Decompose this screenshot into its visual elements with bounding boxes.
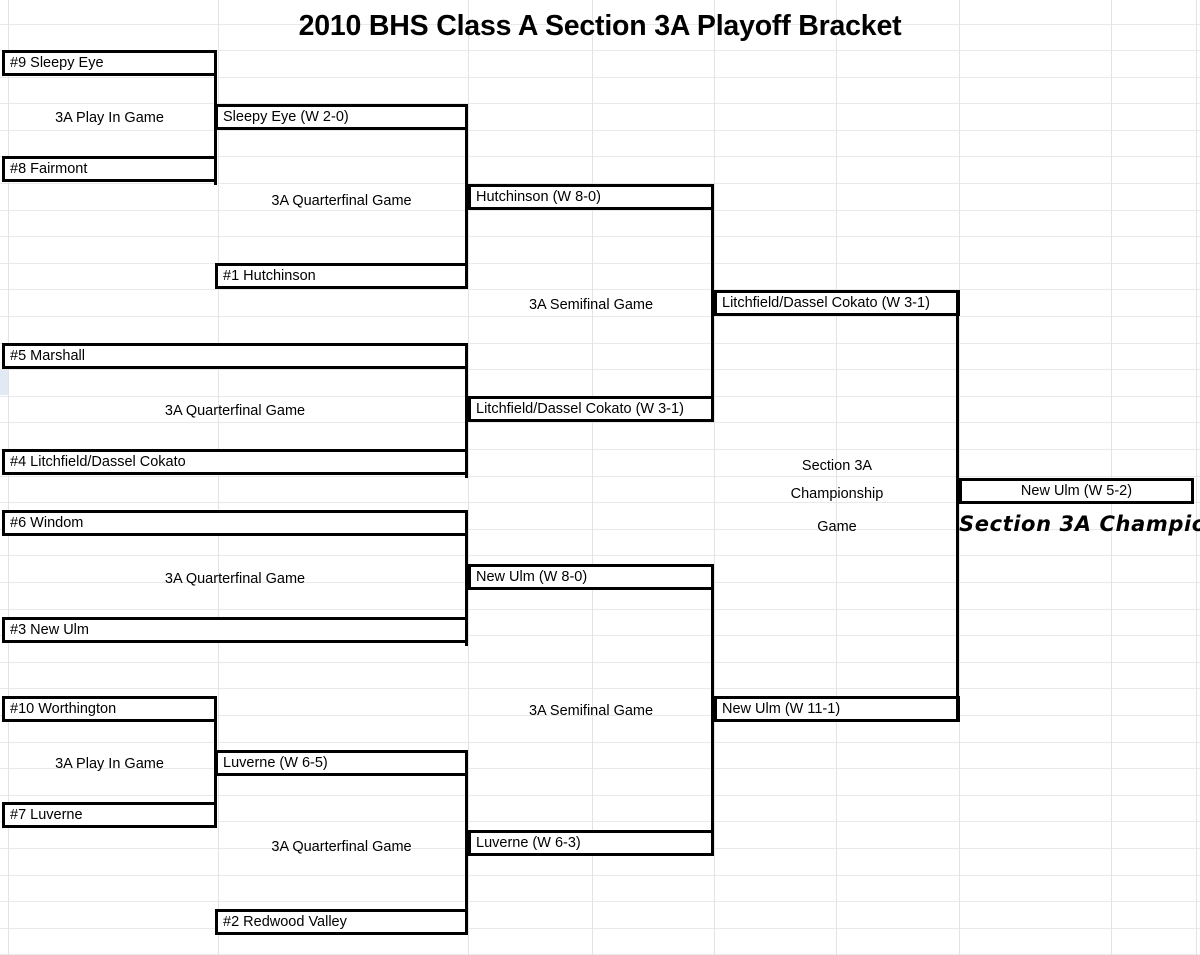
gridline-h [0, 688, 1200, 689]
page-title: 2010 BHS Class A Section 3A Playoff Brac… [0, 10, 1200, 43]
round-caption-quarterfinal: 3A Quarterfinal Game [215, 834, 468, 860]
bracket-slot-winner[interactable]: Luverne (W 6-3) [468, 830, 714, 856]
bracket-slot-seed[interactable]: #4 Litchfield/Dassel Cokato [2, 449, 468, 475]
bracket-slot-winner[interactable]: Sleepy Eye (W 2-0) [215, 104, 468, 130]
bracket-slot-winner[interactable]: Hutchinson (W 8-0) [468, 184, 714, 210]
gridline-h [0, 742, 1200, 743]
gridline-h [0, 662, 1200, 663]
bracket-slot-seed[interactable]: #5 Marshall [2, 343, 468, 369]
round-caption-quarterfinal: 3A Quarterfinal Game [2, 398, 468, 424]
spreadsheet-canvas: 2010 BHS Class A Section 3A Playoff Brac… [0, 0, 1200, 955]
gridline-h [0, 476, 1200, 477]
bracket-slot-seed[interactable]: #9 Sleepy Eye [2, 50, 217, 76]
gridline-v [1196, 0, 1197, 955]
gridline-h [0, 210, 1200, 211]
bracket-slot-champion[interactable]: New Ulm (W 5-2) [959, 478, 1194, 504]
gridline-v [468, 0, 469, 955]
championship-caption-line2: Championship [714, 481, 960, 507]
bracket-slot-seed[interactable]: #1 Hutchinson [215, 263, 468, 289]
bracket-slot-seed[interactable]: #10 Worthington [2, 696, 217, 722]
bracket-slot-seed[interactable]: #8 Fairmont [2, 156, 217, 182]
bracket-slot-seed[interactable]: #2 Redwood Valley [215, 909, 468, 935]
championship-caption-line3: Game [714, 514, 960, 540]
round-caption-quarterfinal: 3A Quarterfinal Game [2, 566, 468, 592]
gridline-v [592, 0, 593, 955]
gridline-h [0, 795, 1200, 796]
gridline-h [0, 609, 1200, 610]
gridline-h [0, 875, 1200, 876]
championship-caption-line1: Section 3A [714, 453, 960, 479]
round-caption-quarterfinal: 3A Quarterfinal Game [215, 188, 468, 214]
bracket-slot-seed[interactable]: #7 Luverne [2, 802, 217, 828]
bracket-slot-seed[interactable]: #6 Windom [2, 510, 468, 536]
selected-cell-highlight[interactable] [0, 370, 8, 395]
bracket-slot-seed[interactable]: #3 New Ulm [2, 617, 468, 643]
gridline-h [0, 103, 1200, 104]
gridline-v [218, 0, 219, 955]
champion-banner-label: Section 3A Champion [959, 512, 1194, 536]
bracket-slot-winner[interactable]: New Ulm (W 11-1) [714, 696, 960, 722]
gridline-h [0, 555, 1200, 556]
gridline-h [0, 901, 1200, 902]
round-caption-play-in: 3A Play In Game [2, 751, 217, 777]
bracket-slot-winner[interactable]: Luverne (W 6-5) [215, 750, 468, 776]
bracket-slot-winner[interactable]: New Ulm (W 8-0) [468, 564, 714, 590]
gridline-h [0, 369, 1200, 370]
gridline-h [0, 289, 1200, 290]
round-caption-play-in: 3A Play In Game [2, 105, 217, 131]
round-caption-semifinal: 3A Semifinal Game [468, 698, 714, 724]
gridline-h [0, 77, 1200, 78]
gridline-h [0, 263, 1200, 264]
bracket-slot-winner[interactable]: Litchfield/Dassel Cokato (W 3-1) [714, 290, 960, 316]
round-caption-semifinal: 3A Semifinal Game [468, 292, 714, 318]
gridline-h [0, 236, 1200, 237]
gridline-h [0, 928, 1200, 929]
bracket-slot-winner[interactable]: Litchfield/Dassel Cokato (W 3-1) [468, 396, 714, 422]
